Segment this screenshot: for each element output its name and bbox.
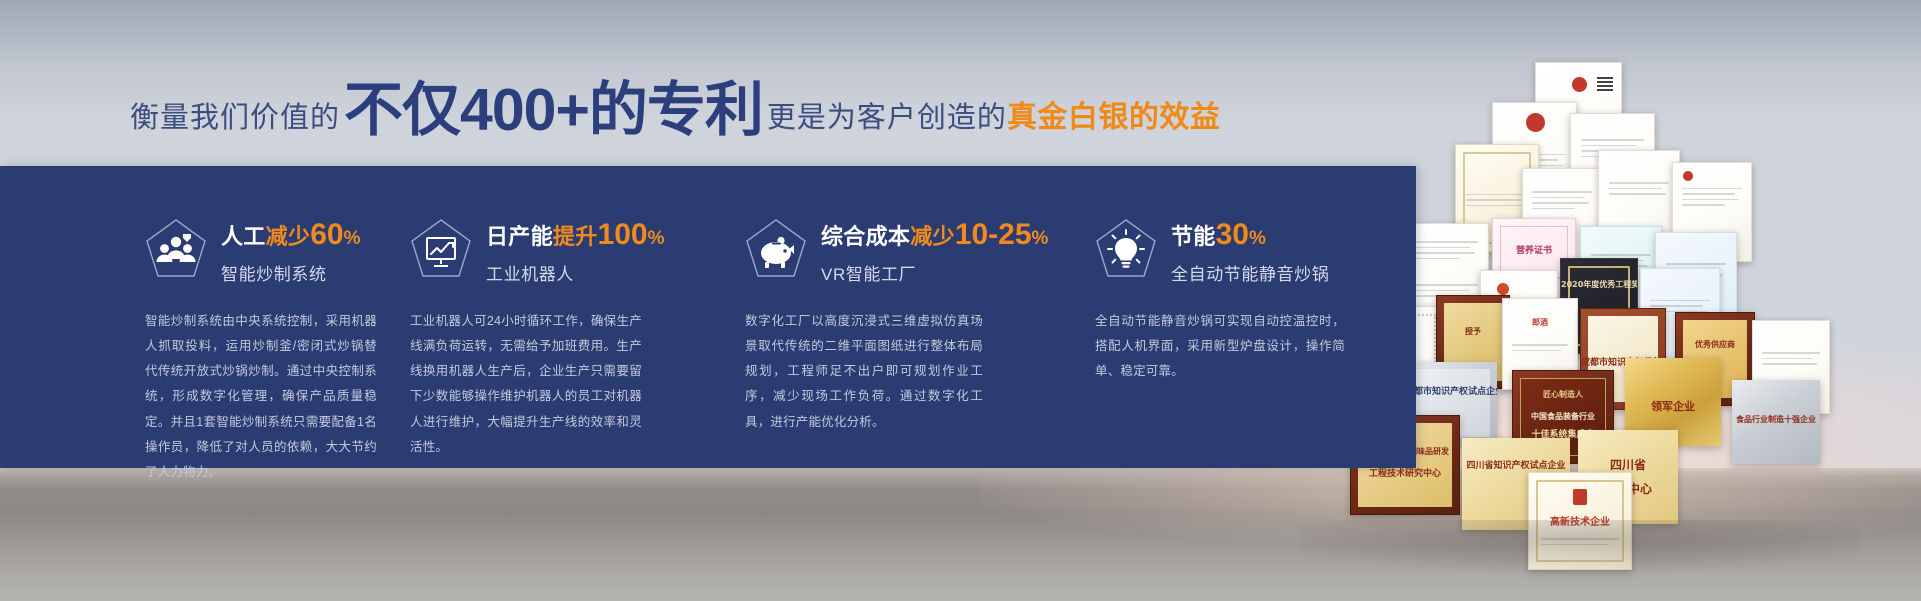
headline-emphasis: 不仅400+的专利 xyxy=(344,81,763,140)
feature-title-prefix: 节能 xyxy=(1171,224,1216,249)
feature-title-prefix: 综合成本 xyxy=(821,224,910,249)
feature-title-percent: % xyxy=(1249,228,1266,249)
headline-middle: 更是为客户创造的 xyxy=(767,94,1007,136)
feature-title-prefix: 人工 xyxy=(221,224,266,249)
certificate-plaque: 食品行业制造十强企业 xyxy=(1732,380,1820,464)
feature-description: 智能炒制系统由中央系统控制，采用机器人抓取投料，运用炒制釜/密闭式炒锅替代传统开… xyxy=(145,309,377,486)
feature-description: 全自动节能静音炒锅可实现自动控温控时，搭配人机界面，采用新型炉盘设计，操作简单、… xyxy=(1095,309,1345,385)
piggy-bank-icon xyxy=(745,218,807,282)
feature-card-cost: 综合成本减少10-25% VR智能工厂 数字化工厂以高度沉浸式三维虚拟仿真场景取… xyxy=(700,166,1045,468)
feature-card-energy: 节能30% 全自动节能静音炒锅 全自动节能静音炒锅可实现自动控温控时，搭配人机界… xyxy=(1045,166,1416,468)
feature-title-prefix: 日产能 xyxy=(486,224,553,249)
feature-title: 人工减少60% xyxy=(221,218,361,253)
feature-title: 节能30% xyxy=(1171,218,1329,253)
lightbulb-icon xyxy=(1095,218,1157,282)
feature-card-labor: 人工减少60% 智能炒制系统 智能炒制系统由中央系统控制，采用机器人抓取投料，运… xyxy=(0,166,355,468)
headline-highlight: 真金白银的效益 xyxy=(1007,92,1221,136)
feature-title-accent: 减少 xyxy=(266,224,311,249)
feature-title-number: 10-25 xyxy=(955,218,1032,251)
feature-title-number: 30 xyxy=(1216,218,1249,251)
certificate-wall-shadow xyxy=(1300,520,1860,572)
feature-title-accent: 减少 xyxy=(910,224,955,249)
feature-subtitle: 全自动节能静音炒锅 xyxy=(1171,260,1329,285)
feature-subtitle: 智能炒制系统 xyxy=(221,260,361,285)
feature-title: 日产能提升100% xyxy=(486,218,665,253)
page-title: 衡量我们价值的 不仅400+的专利 更是为客户创造的 真金白银的效益 xyxy=(130,78,1220,137)
feature-title: 综合成本减少10-25% xyxy=(821,218,1049,253)
feature-subtitle: 工业机器人 xyxy=(486,260,665,285)
features-panel: 人工减少60% 智能炒制系统 智能炒制系统由中央系统控制，采用机器人抓取投料，运… xyxy=(0,166,1416,468)
feature-description: 工业机器人可24小时循环工作，确保生产线满负荷运转，无需给予加班费用。生产线换用… xyxy=(410,309,642,461)
feature-title-accent: 提升 xyxy=(553,224,598,249)
chart-board-icon xyxy=(410,218,472,282)
feature-title-number: 60 xyxy=(310,218,343,251)
headline-lead: 衡量我们价值的 xyxy=(130,94,340,136)
people-group-icon xyxy=(145,218,207,282)
feature-subtitle: VR智能工厂 xyxy=(821,260,1049,285)
feature-description: 数字化工厂以高度沉浸式三维虚拟仿真场景取代传统的二维平面图纸进行整体布局规划，工… xyxy=(745,309,983,435)
promo-banner: 营养证书 2020年度优秀工程奖 证书 授予 xyxy=(0,0,1921,601)
feature-title-percent: % xyxy=(648,228,665,249)
feature-title-number: 100 xyxy=(598,218,648,251)
feature-card-capacity: 日产能提升100% 工业机器人 工业机器人可24小时循环工作，确保生产线满负荷运… xyxy=(355,166,700,468)
